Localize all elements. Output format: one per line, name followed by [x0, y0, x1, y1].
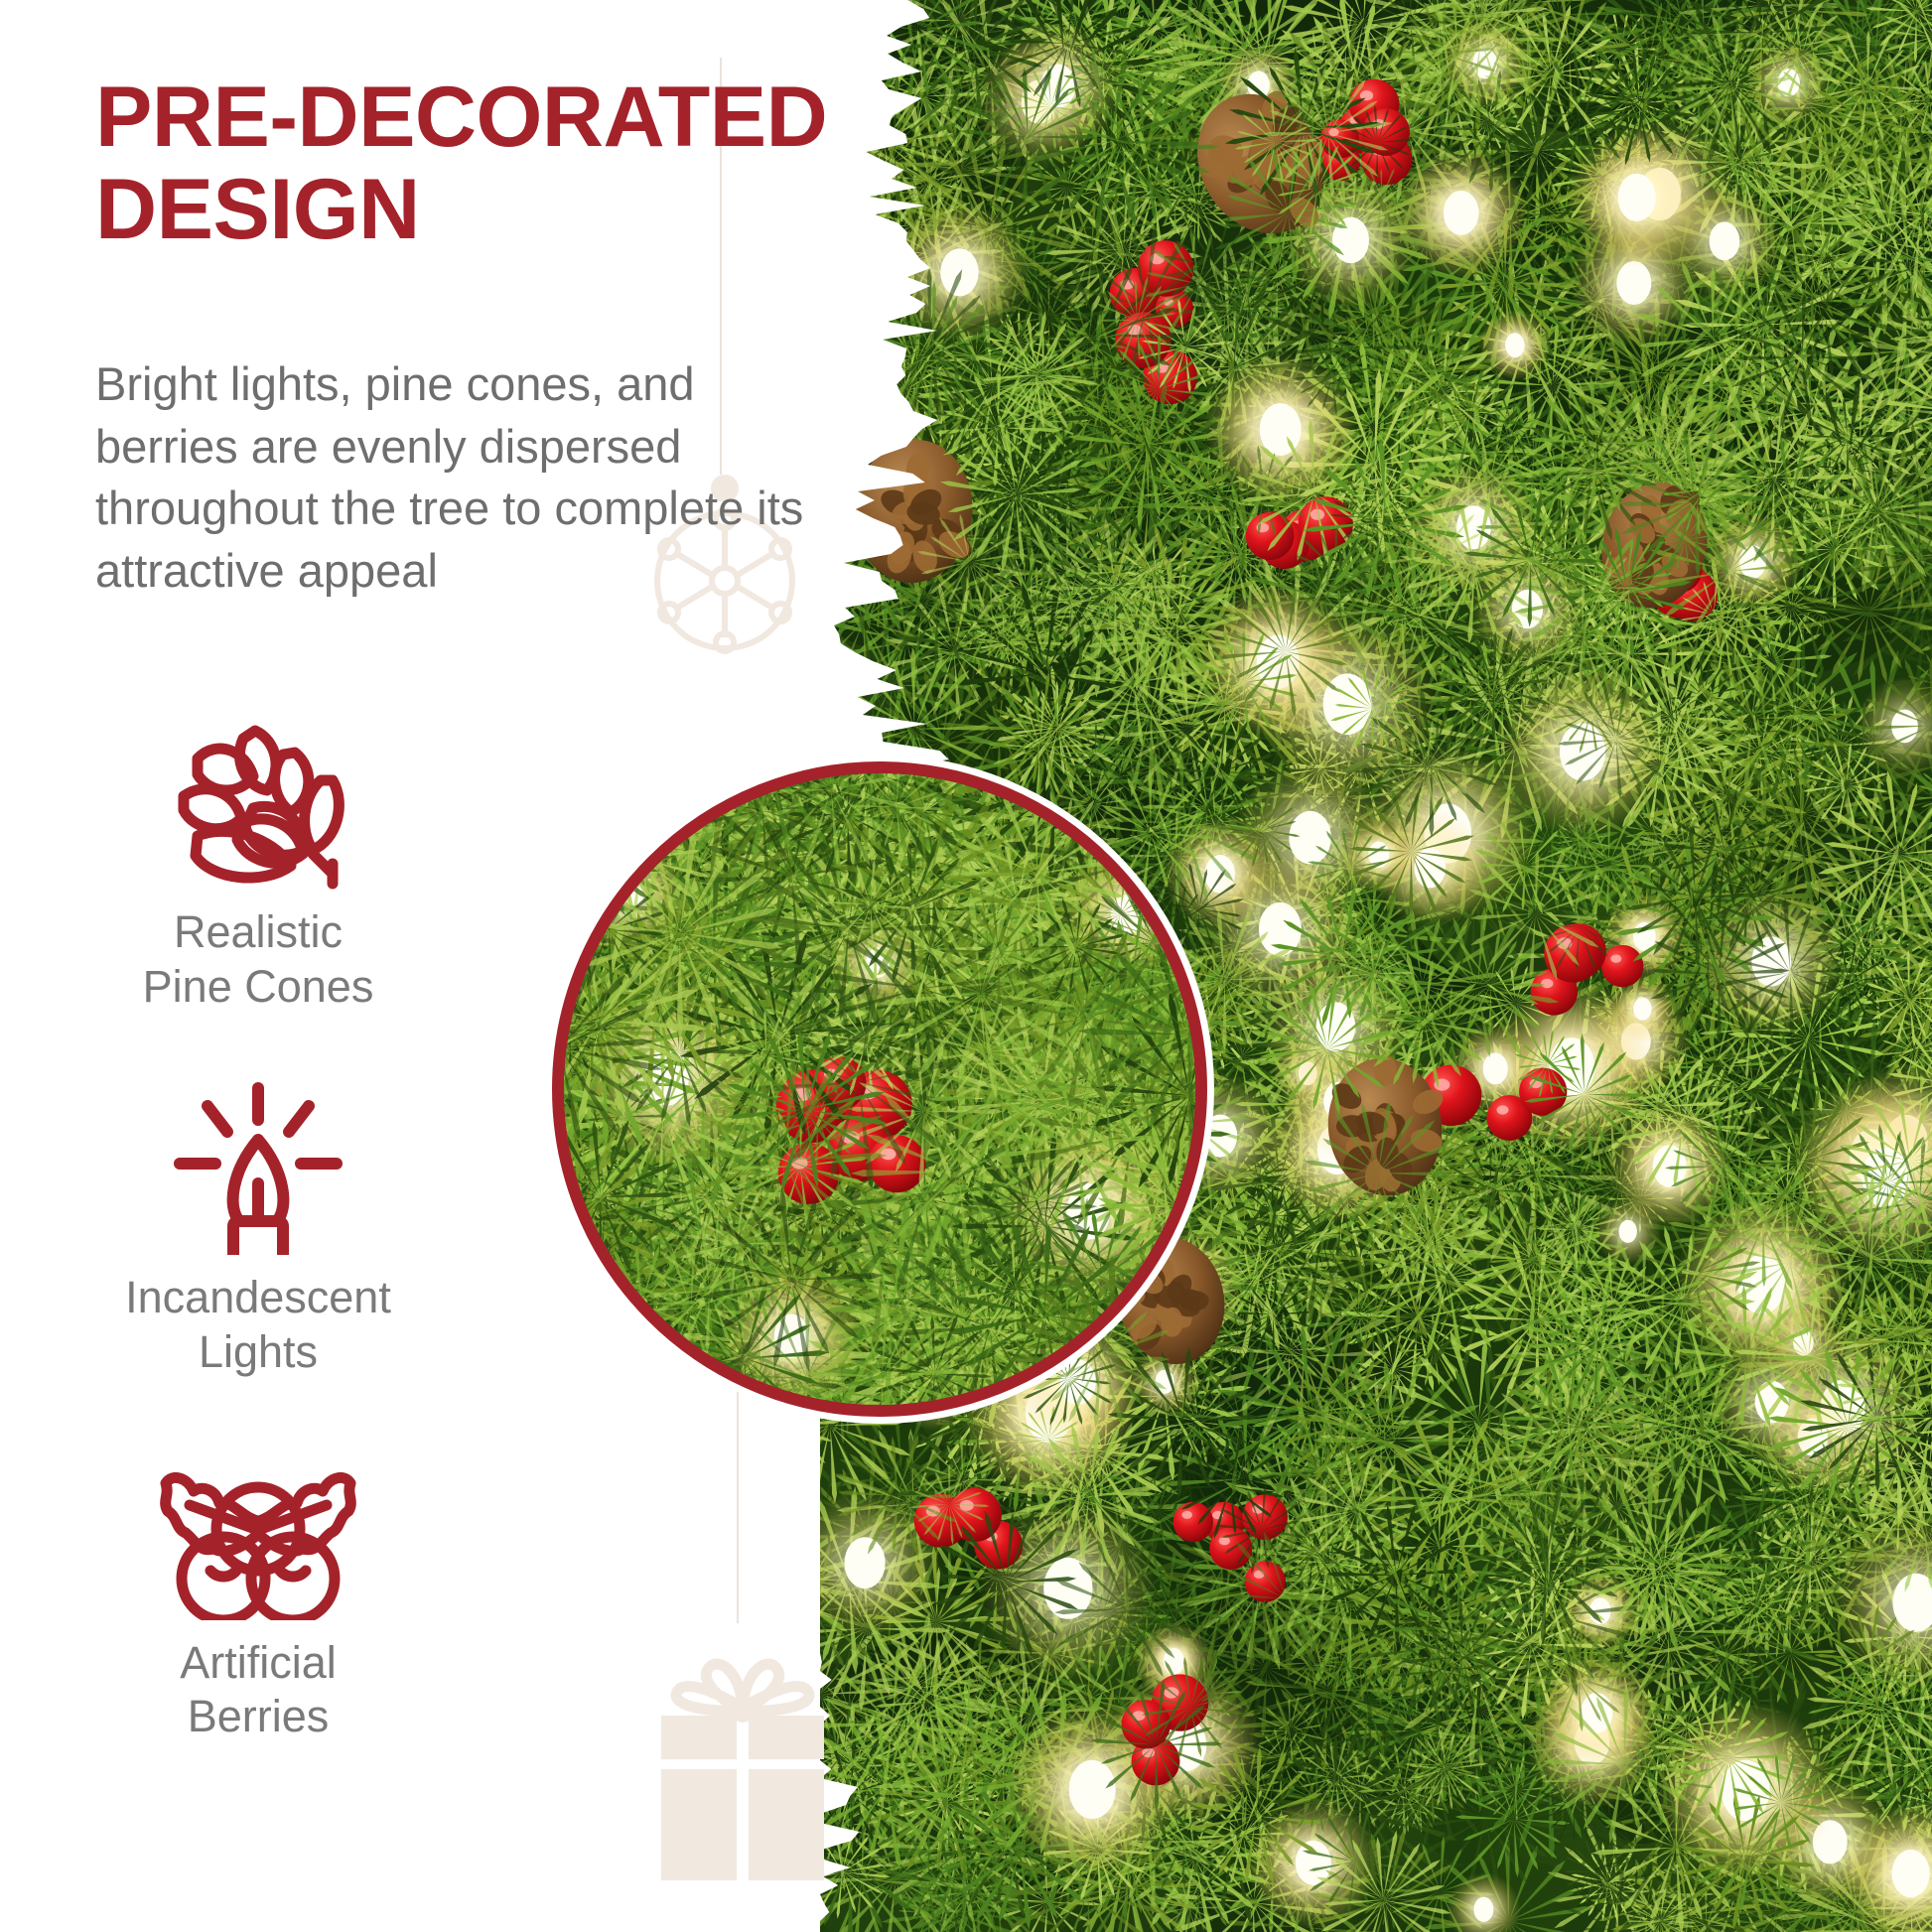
feature-item-pine-cones: Realistic Pine Cones [0, 715, 516, 1015]
feature-label-pine-cones: Realistic Pine Cones [0, 905, 516, 1015]
berries-label-line-1: Artificial [180, 1637, 337, 1688]
product-feature-graphic: PRE-DECORATED DESIGN Bright lights, pine… [0, 0, 1932, 1932]
gift-box-watermark [623, 1620, 862, 1890]
feature-label-lights: Incandescent Lights [0, 1271, 516, 1380]
feature-item-lights: Incandescent Lights [0, 1080, 516, 1380]
holly-berries-icon [0, 1446, 516, 1620]
zoom-detail-image [552, 761, 1207, 1417]
pine-cones-label-line-2: Pine Cones [143, 961, 374, 1012]
feature-label-berries: Artificial Berries [0, 1636, 516, 1745]
subheadline-text: Bright lights, pine cones, and berries a… [95, 353, 830, 602]
pine-cones-label-line-1: Realistic [174, 906, 343, 957]
headline-line-2: DESIGN [95, 164, 890, 256]
pine-cone-icon [0, 715, 516, 890]
feature-list: Realistic Pine Cones [0, 715, 516, 1810]
lights-label-line-2: Lights [199, 1326, 318, 1377]
berries-label-line-2: Berries [188, 1691, 330, 1741]
page-title: PRE-DECORATED DESIGN [95, 71, 890, 256]
zoom-detail-circle [552, 761, 1207, 1417]
incandescent-bulb-icon [0, 1080, 516, 1255]
lights-label-line-1: Incandescent [125, 1272, 391, 1322]
feature-item-berries: Artificial Berries [0, 1446, 516, 1745]
headline-line-1: PRE-DECORATED [95, 71, 890, 164]
